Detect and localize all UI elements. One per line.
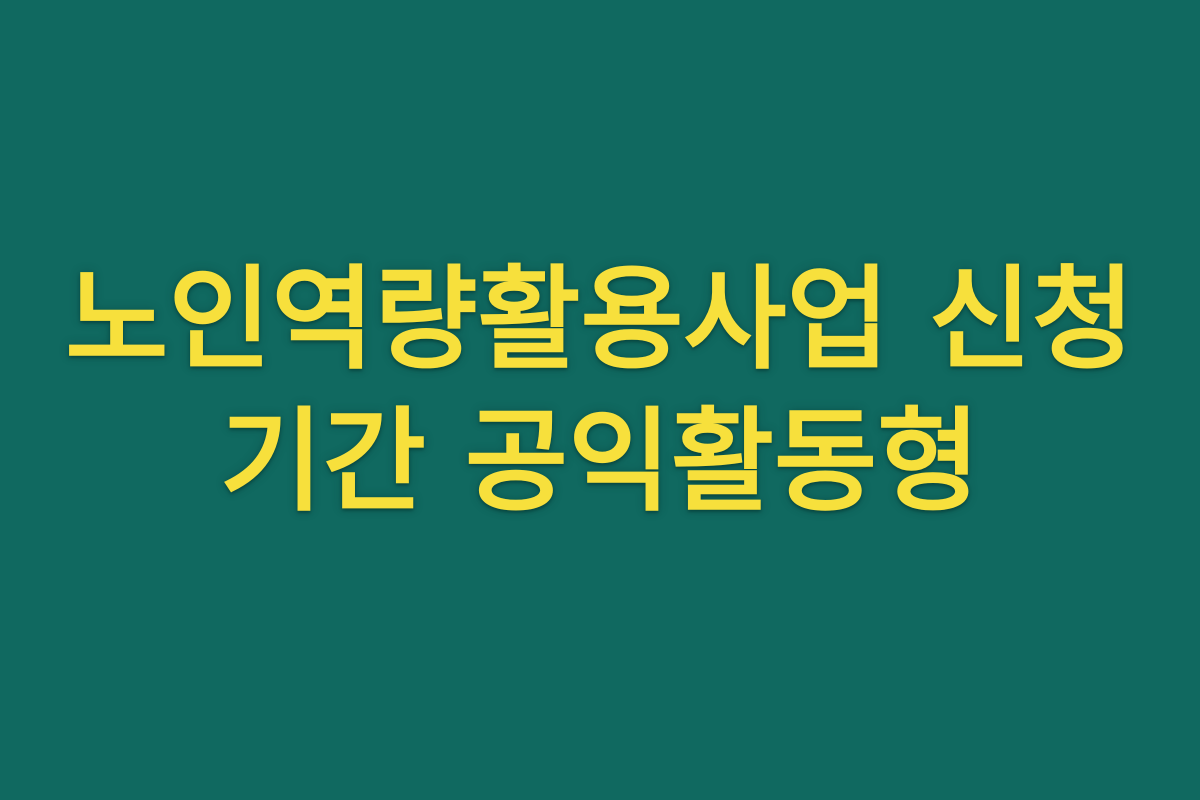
- title-card: 노인역량활용사업 신청 기간 공익활동형: [0, 0, 1200, 800]
- title-line-2: 기간 공익활동형: [220, 391, 980, 533]
- title-text-block: 노인역량활용사업 신청 기간 공익활동형: [0, 0, 1200, 800]
- title-line-1: 노인역량활용사업 신청: [65, 249, 1134, 391]
